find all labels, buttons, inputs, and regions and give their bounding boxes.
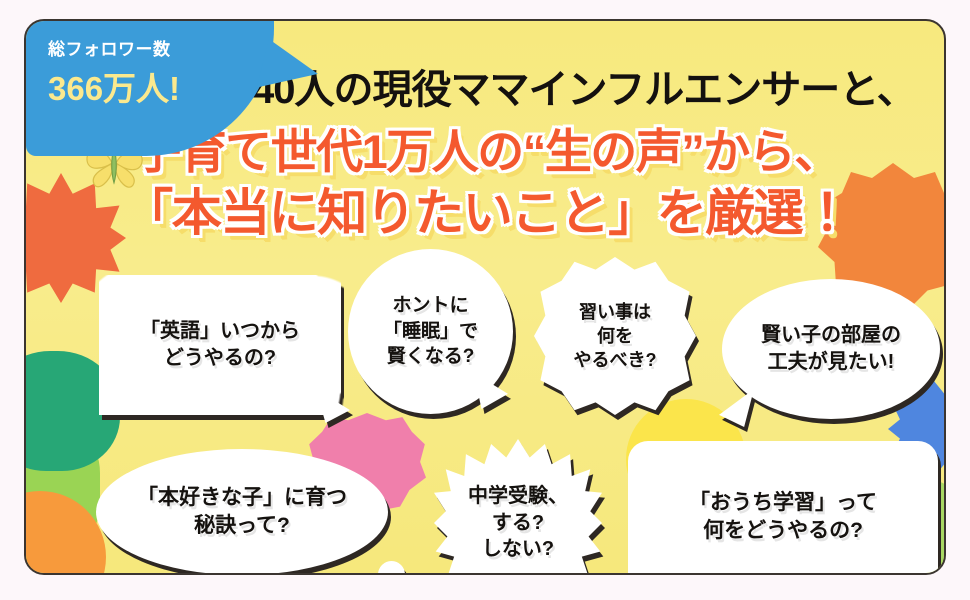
headline-black-line: 40人の現役ママインフルエンサーと、 bbox=[252, 57, 942, 115]
bubble-english-text: 「英語」いつからどうやるの? bbox=[140, 318, 300, 372]
bubble-books-dot-large bbox=[378, 561, 405, 575]
poster-stage: 40人の現役ママインフルエンサーと、 子育て世代1万人の“生の声”から、 「本当… bbox=[0, 0, 970, 600]
bubble-home-study: 「おうち学習」って何をどうやるの? bbox=[628, 441, 938, 575]
bubble-room-text: 賢い子の部屋の工夫が見たい! bbox=[761, 322, 901, 376]
bubble-books-text: 「本好きな子」に育つ秘訣って? bbox=[137, 484, 347, 540]
bubble-lessons: 習い事は何をやるべき? bbox=[534, 257, 696, 415]
follower-badge-label: 総フォロワー数 bbox=[48, 35, 274, 60]
green-blob-lower-left-decoration bbox=[24, 413, 100, 563]
headline-red-line-2: 「本当に知りたいこと」を厳選！ bbox=[26, 173, 946, 245]
bubble-lessons-text: 習い事は何をやるべき? bbox=[574, 300, 657, 372]
orange-circle-bottom-left-decoration bbox=[24, 491, 106, 575]
bubble-sleep: ホントに「睡眠」で賢くなる? bbox=[348, 249, 513, 414]
bubble-exam-text: 中学受験、する?しない? bbox=[468, 483, 568, 563]
bubble-home-study-text: 「おうち学習」って何をどうやるの? bbox=[689, 489, 877, 545]
poster-card: 40人の現役ママインフルエンサーと、 子育て世代1万人の“生の声”から、 「本当… bbox=[24, 19, 946, 575]
follower-badge-value: 366万人! bbox=[48, 62, 274, 110]
bubble-books: 「本好きな子」に育つ秘訣って? bbox=[96, 449, 388, 575]
bubble-exam: 中学受験、する?しない? bbox=[434, 439, 602, 575]
bubble-english: 「英語」いつからどうやるの? bbox=[99, 275, 341, 415]
bubble-sleep-text: ホントに「睡眠」で賢くなる? bbox=[383, 293, 478, 369]
bubble-room: 賢い子の部屋の工夫が見たい! bbox=[722, 279, 940, 419]
